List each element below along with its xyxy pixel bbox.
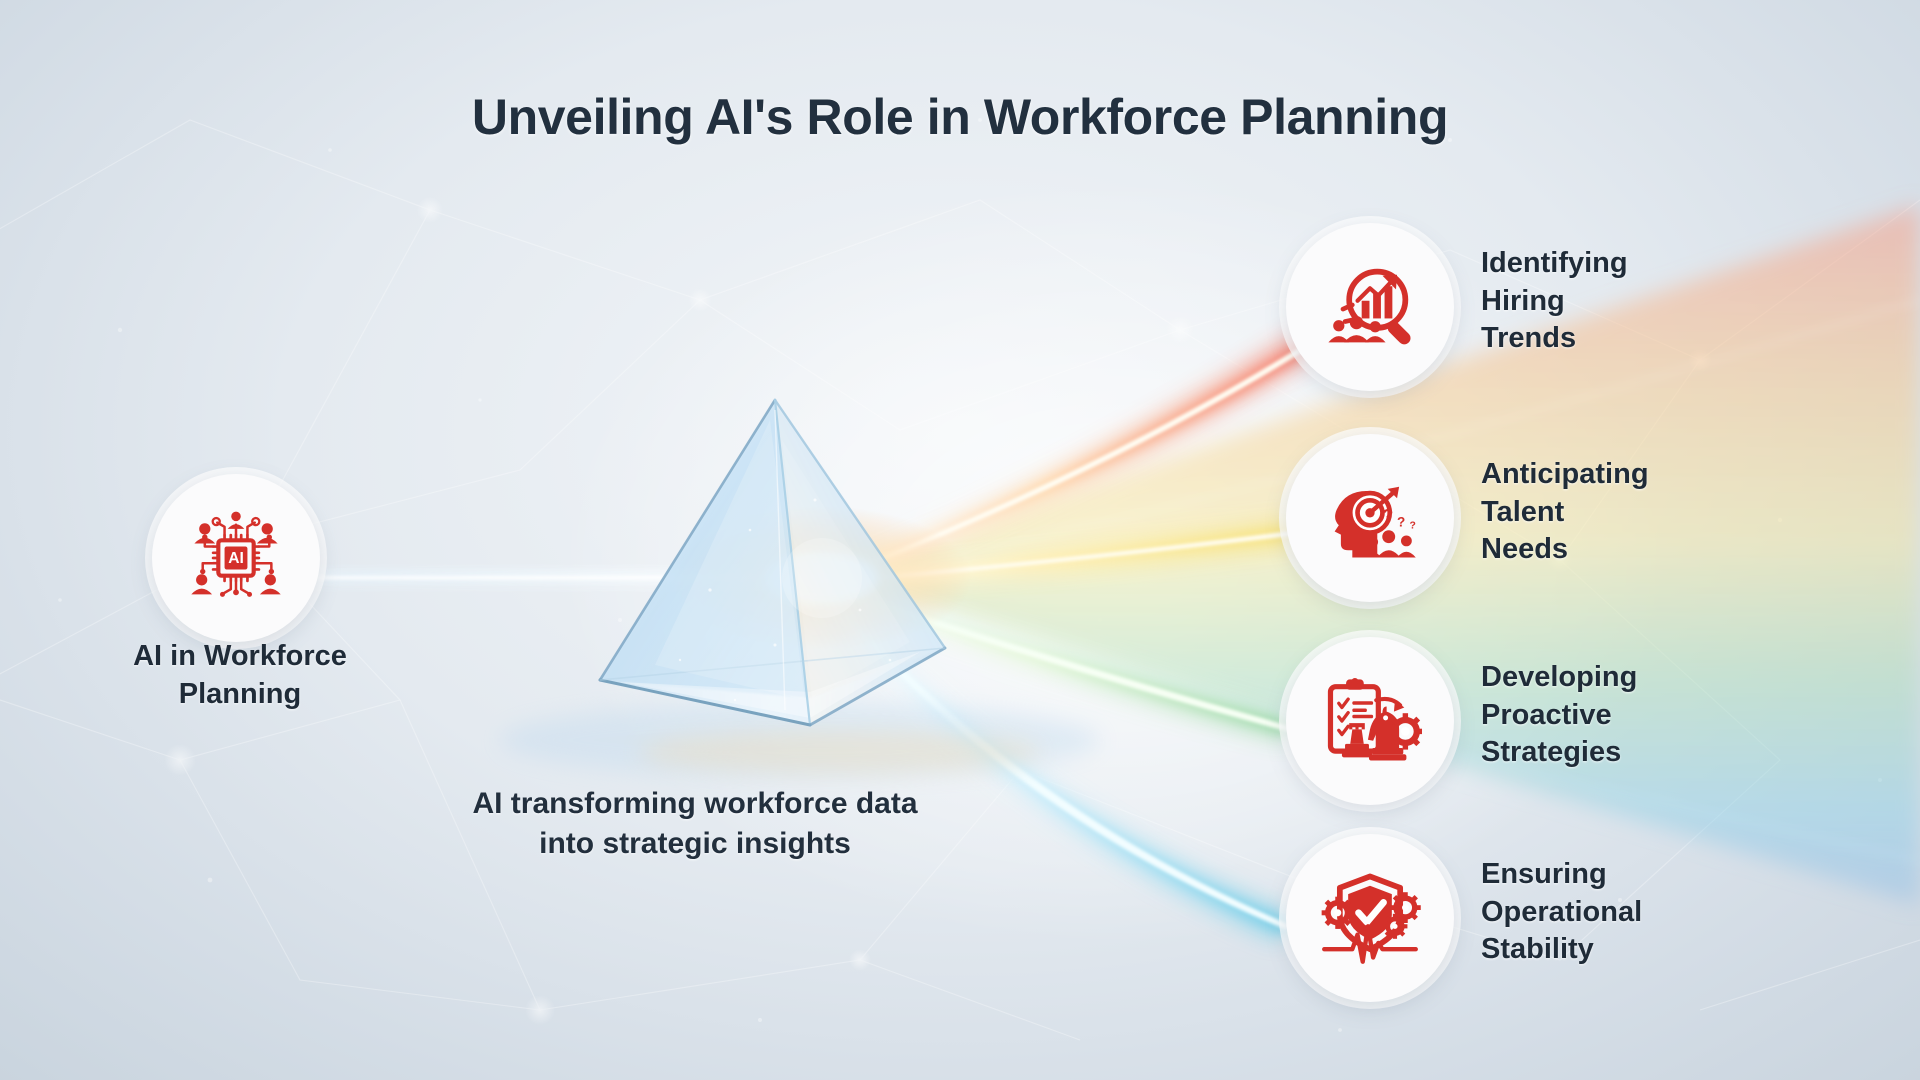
magnifier-bar-chart-growth-icon — [1318, 255, 1422, 359]
shield-check-gears-pulse-icon — [1318, 866, 1422, 970]
infographic-canvas: Unveiling AI's Role in Workforce Plannin… — [0, 0, 1920, 1080]
output-icon-circle[interactable] — [1286, 834, 1454, 1002]
output-icon-circle[interactable] — [1286, 637, 1454, 805]
output-node-label: Identifying Hiring Trends — [1481, 245, 1628, 358]
output-node-label: Developing Proactive Strategies — [1481, 659, 1637, 772]
svg-text:AI: AI — [228, 550, 244, 567]
output-icon-circle[interactable]: ? ? ? — [1286, 434, 1454, 602]
svg-text:?: ? — [1382, 505, 1393, 525]
output-node-label: Ensuring Operational Stability — [1481, 856, 1642, 969]
glass-prism — [560, 380, 1060, 780]
output-icon-circle[interactable] — [1286, 223, 1454, 391]
input-node-label: AI in Workforce Planning — [40, 638, 440, 713]
prism-caption: AI transforming workforce data into stra… — [330, 784, 1060, 864]
svg-text:?: ? — [1397, 514, 1405, 529]
output-node-label: Anticipating Talent Needs — [1481, 456, 1649, 569]
input-icon-circle[interactable]: AI — [152, 474, 320, 642]
head-target-people-question-icon: ? ? ? — [1318, 466, 1422, 570]
svg-text:?: ? — [1410, 520, 1416, 531]
page-title: Unveiling AI's Role in Workforce Plannin… — [0, 88, 1920, 146]
ai-chip-network-icon: AI — [184, 506, 288, 610]
clipboard-chess-gear-icon — [1318, 669, 1422, 773]
